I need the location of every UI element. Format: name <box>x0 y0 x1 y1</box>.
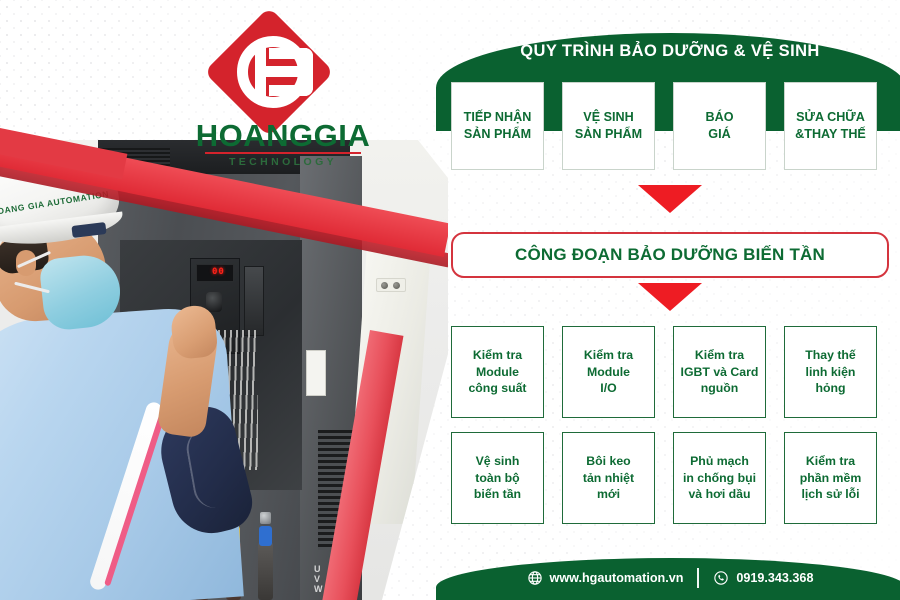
footer-contact: www.hgautomation.vn 0919.343.368 <box>440 568 900 588</box>
task-item[interactable]: Thay thếlinh kiệnhỏng <box>784 326 877 418</box>
task-item[interactable]: Kiểm traphần mềmlịch sử lỗi <box>784 432 877 524</box>
helmet-chin-clip <box>71 222 106 238</box>
process-steps-row: TIẾP NHẬNSẢN PHẨM VỆ SINHSẢN PHẨM BÁOGIÁ… <box>451 82 889 170</box>
process-step-2[interactable]: VỆ SINHSẢN PHẨM <box>562 82 655 170</box>
arrow-down-icon-top <box>638 185 702 213</box>
infographic-canvas: 00 U V W MOTOR <box>0 0 900 600</box>
phone-icon <box>713 570 729 586</box>
cable-lug-4 <box>258 542 273 600</box>
photo-scene: 00 U V W MOTOR <box>0 140 448 600</box>
footer-phone[interactable]: 0919.343.368 <box>713 570 813 586</box>
task-item[interactable]: Bôi keotản nhiệtmới <box>562 432 655 524</box>
task-row-2: Vệ sinhtoàn bộbiến tần Bôi keotản nhiệtm… <box>451 432 889 524</box>
task-item[interactable]: Kiểm traModulecông suất <box>451 326 544 418</box>
inverter-side-module <box>244 266 264 336</box>
technician-photo: 00 U V W MOTOR <box>0 140 448 600</box>
technician-hand <box>169 304 218 360</box>
process-flow-panel: QUY TRÌNH BẢO DƯỠNG & VỆ SINH TIẾP NHẬNS… <box>440 0 900 600</box>
process-step-3[interactable]: BÁOGIÁ <box>673 82 766 170</box>
logo-tagline: TECHNOLOGY <box>183 156 383 168</box>
company-logo: HOANGGIA TECHNOLOGY <box>183 18 383 178</box>
task-grid: Kiểm traModulecông suất Kiểm traModuleI/… <box>451 326 889 538</box>
logo-g-crossbar <box>283 66 309 77</box>
task-row-1: Kiểm traModulecông suất Kiểm traModuleI/… <box>451 326 889 418</box>
logo-divider <box>205 152 361 154</box>
task-item[interactable]: Kiểm traModuleI/O <box>562 326 655 418</box>
footer-website[interactable]: www.hgautomation.vn <box>527 570 684 586</box>
panel-screw-plate <box>376 278 406 292</box>
process-step-1[interactable]: TIẾP NHẬNSẢN PHẨM <box>451 82 544 170</box>
logo-company-name: HOANGGIA <box>183 118 383 154</box>
arrow-down-icon-bottom <box>638 283 702 311</box>
task-item[interactable]: Phủ mạchin chống bụivà hơi dầu <box>673 432 766 524</box>
page-title: QUY TRÌNH BẢO DƯỠNG & VỆ SINH <box>440 42 900 61</box>
globe-icon <box>527 570 543 586</box>
footer-website-label: www.hgautomation.vn <box>550 571 684 585</box>
mid-section-banner: CÔNG ĐOẠN BẢO DƯỠNG BIẾN TẦN <box>451 232 889 278</box>
hg-diamond-monogram-icon <box>211 18 335 120</box>
task-item[interactable]: Kiểm traIGBT và Cardnguồn <box>673 326 766 418</box>
task-item[interactable]: Vệ sinhtoàn bộbiến tần <box>451 432 544 524</box>
cabinet-spec-label <box>306 350 326 396</box>
process-step-4[interactable]: SỬA CHỮA&THAY THẾ <box>784 82 877 170</box>
footer-phone-label: 0919.343.368 <box>736 571 813 585</box>
footer-divider <box>697 568 699 588</box>
